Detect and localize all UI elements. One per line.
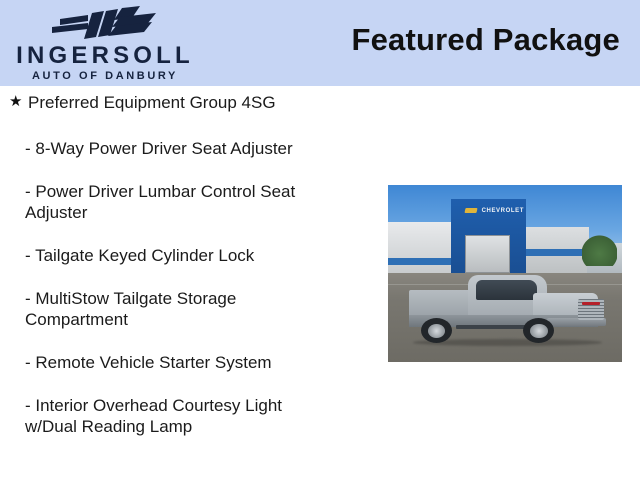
pickup-truck bbox=[409, 274, 606, 348]
chevrolet-bowtie-icon bbox=[465, 208, 478, 213]
list-item: - Remote Vehicle Starter System bbox=[0, 352, 370, 373]
dealership-accent-stripe-left bbox=[388, 258, 458, 265]
list-item: - 8-Way Power Driver Seat Adjuster bbox=[0, 138, 370, 159]
vehicle-photo-scene: CHEVROLET bbox=[388, 185, 622, 362]
list-item: - Interior Overhead Courtesy Light w/Dua… bbox=[0, 395, 370, 437]
list-item-label: - Tailgate Keyed Cylinder Lock bbox=[25, 245, 370, 266]
dealer-tagline: AUTO OF DANBURY bbox=[0, 71, 210, 82]
slide-canvas: INGERSOLL AUTO OF DANBURY Featured Packa… bbox=[0, 0, 640, 480]
dealership-sign-text: CHEVROLET bbox=[482, 208, 524, 214]
list-item-label: - 8-Way Power Driver Seat Adjuster bbox=[25, 138, 370, 159]
truck-window-glass bbox=[476, 280, 537, 299]
list-item-label: - Power Driver Lumbar Control Seat Adjus… bbox=[25, 181, 370, 223]
dealership-building-left bbox=[388, 222, 458, 273]
tree bbox=[582, 235, 617, 267]
truck-running-board bbox=[456, 325, 527, 329]
page-title: Featured Package bbox=[351, 22, 620, 58]
list-item: - Tailgate Keyed Cylinder Lock bbox=[0, 245, 370, 266]
vehicle-photo: CHEVROLET bbox=[388, 185, 622, 362]
dealer-name: INGERSOLL bbox=[0, 44, 210, 68]
gmc-badge-icon bbox=[582, 302, 600, 306]
header-band: INGERSOLL AUTO OF DANBURY Featured Packa… bbox=[0, 0, 640, 86]
list-item: - Power Driver Lumbar Control Seat Adjus… bbox=[0, 181, 370, 223]
list-item-label: - Remote Vehicle Starter System bbox=[25, 352, 370, 373]
list-item-label: Preferred Equipment Group 4SG bbox=[28, 92, 370, 113]
list-item-label: - Interior Overhead Courtesy Light w/Dua… bbox=[25, 395, 370, 437]
list-item: - MultiStow Tailgate Storage Compartment bbox=[0, 288, 370, 330]
list-item-label: - MultiStow Tailgate Storage Compartment bbox=[25, 288, 370, 330]
ingersoll-winged-flag-emblem bbox=[44, 6, 170, 42]
dealership-service-door bbox=[465, 235, 509, 274]
dealer-logo[interactable]: INGERSOLL AUTO OF DANBURY bbox=[0, 2, 210, 86]
feature-list: ★ Preferred Equipment Group 4SG - 8-Way … bbox=[0, 92, 370, 459]
list-item: ★ Preferred Equipment Group 4SG bbox=[0, 92, 370, 113]
star-bullet-icon: ★ bbox=[9, 93, 22, 111]
